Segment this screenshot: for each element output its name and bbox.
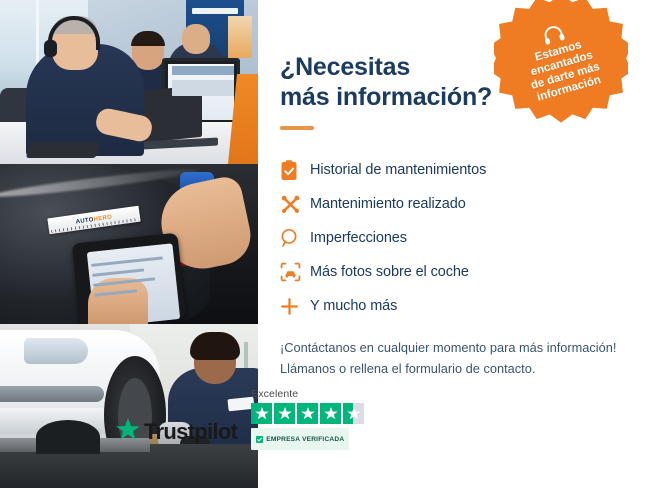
trustpilot-widget[interactable]: Trustpilot Excelente [116, 388, 364, 450]
crossed-tools-icon [280, 194, 310, 215]
feature-list: Historial de mantenimientos M [280, 154, 650, 322]
background-person-head [182, 24, 210, 54]
star-filled [251, 403, 272, 424]
rating-label: Excelente [251, 388, 298, 400]
magnifier-icon [280, 228, 310, 248]
tablet-screen-rows [91, 256, 169, 323]
contact-line-1: ¡Contáctanos en cualquier momento para m… [280, 340, 616, 355]
promo-banner: AUTOHERO [0, 0, 650, 488]
front-grille [0, 386, 104, 402]
list-item: Mantenimiento realizado [280, 188, 650, 220]
monitor-screen-header [172, 66, 234, 75]
ruler-brand-text: AUTOHERO [75, 214, 112, 225]
headlamp [24, 338, 88, 364]
trustpilot-wordmark: Trustpilot [144, 419, 237, 445]
star-rating [251, 403, 364, 424]
page-title: ¿Necesitas más información? [280, 52, 510, 112]
list-item: Más fotos sobre el coche [280, 256, 650, 288]
verified-company-label: EMPRESA VERIFICADA [266, 436, 344, 443]
trustpilot-star-icon [116, 418, 140, 446]
contact-text: ¡Contáctanos en cualquier momento para m… [280, 338, 640, 379]
list-item: Y mucho más [280, 290, 650, 322]
tablet-row [94, 289, 137, 296]
car-photo-frame-icon [280, 262, 310, 282]
check-square-icon [256, 430, 263, 448]
wall-poster [228, 16, 252, 58]
list-item-label: Historial de mantenimientos [310, 162, 486, 178]
star-filled [274, 403, 295, 424]
tablet-row [92, 268, 144, 276]
star-filled [320, 403, 341, 424]
list-item-label: Imperfecciones [310, 230, 407, 246]
plus-icon [280, 297, 310, 316]
list-item: Imperfecciones [280, 222, 650, 254]
verified-company-badge: EMPRESA VERIFICADA [251, 428, 349, 450]
trustpilot-logo[interactable]: Trustpilot [116, 418, 237, 450]
agent-headset-earcup [44, 40, 57, 57]
list-item-label: Mantenimiento realizado [310, 196, 466, 212]
badge-text: Estamos encantados de darte más informac… [510, 32, 617, 109]
contact-line-2: Llámanos o rellena el formulario de cont… [280, 361, 535, 376]
tablet-row [93, 277, 155, 286]
page-title-line-2: más información? [280, 83, 492, 111]
mechanic-hair [190, 332, 240, 360]
call-center-agents-photo [0, 0, 258, 164]
clipboard-check-icon [280, 160, 310, 181]
promo-badge: Estamos encantados de darte más informac… [494, 0, 628, 128]
star-filled [297, 403, 318, 424]
list-item-label: Más fotos sobre el coche [310, 264, 469, 280]
desk-tablet [26, 142, 101, 158]
rear-wheel [36, 420, 100, 454]
trustpilot-rating: Excelente [251, 388, 364, 450]
car-inspection-ruler-photo: AUTOHERO [0, 164, 258, 324]
star-partial [343, 403, 364, 424]
page-title-line-1: ¿Necesitas [280, 53, 410, 81]
title-underline-rule [280, 126, 314, 130]
monitor-screen-content [172, 80, 234, 96]
list-item-label: Y mucho más [310, 298, 397, 314]
badge-content: Estamos encantados de darte más informac… [478, 0, 644, 144]
list-item: Historial de mantenimientos [280, 154, 650, 186]
